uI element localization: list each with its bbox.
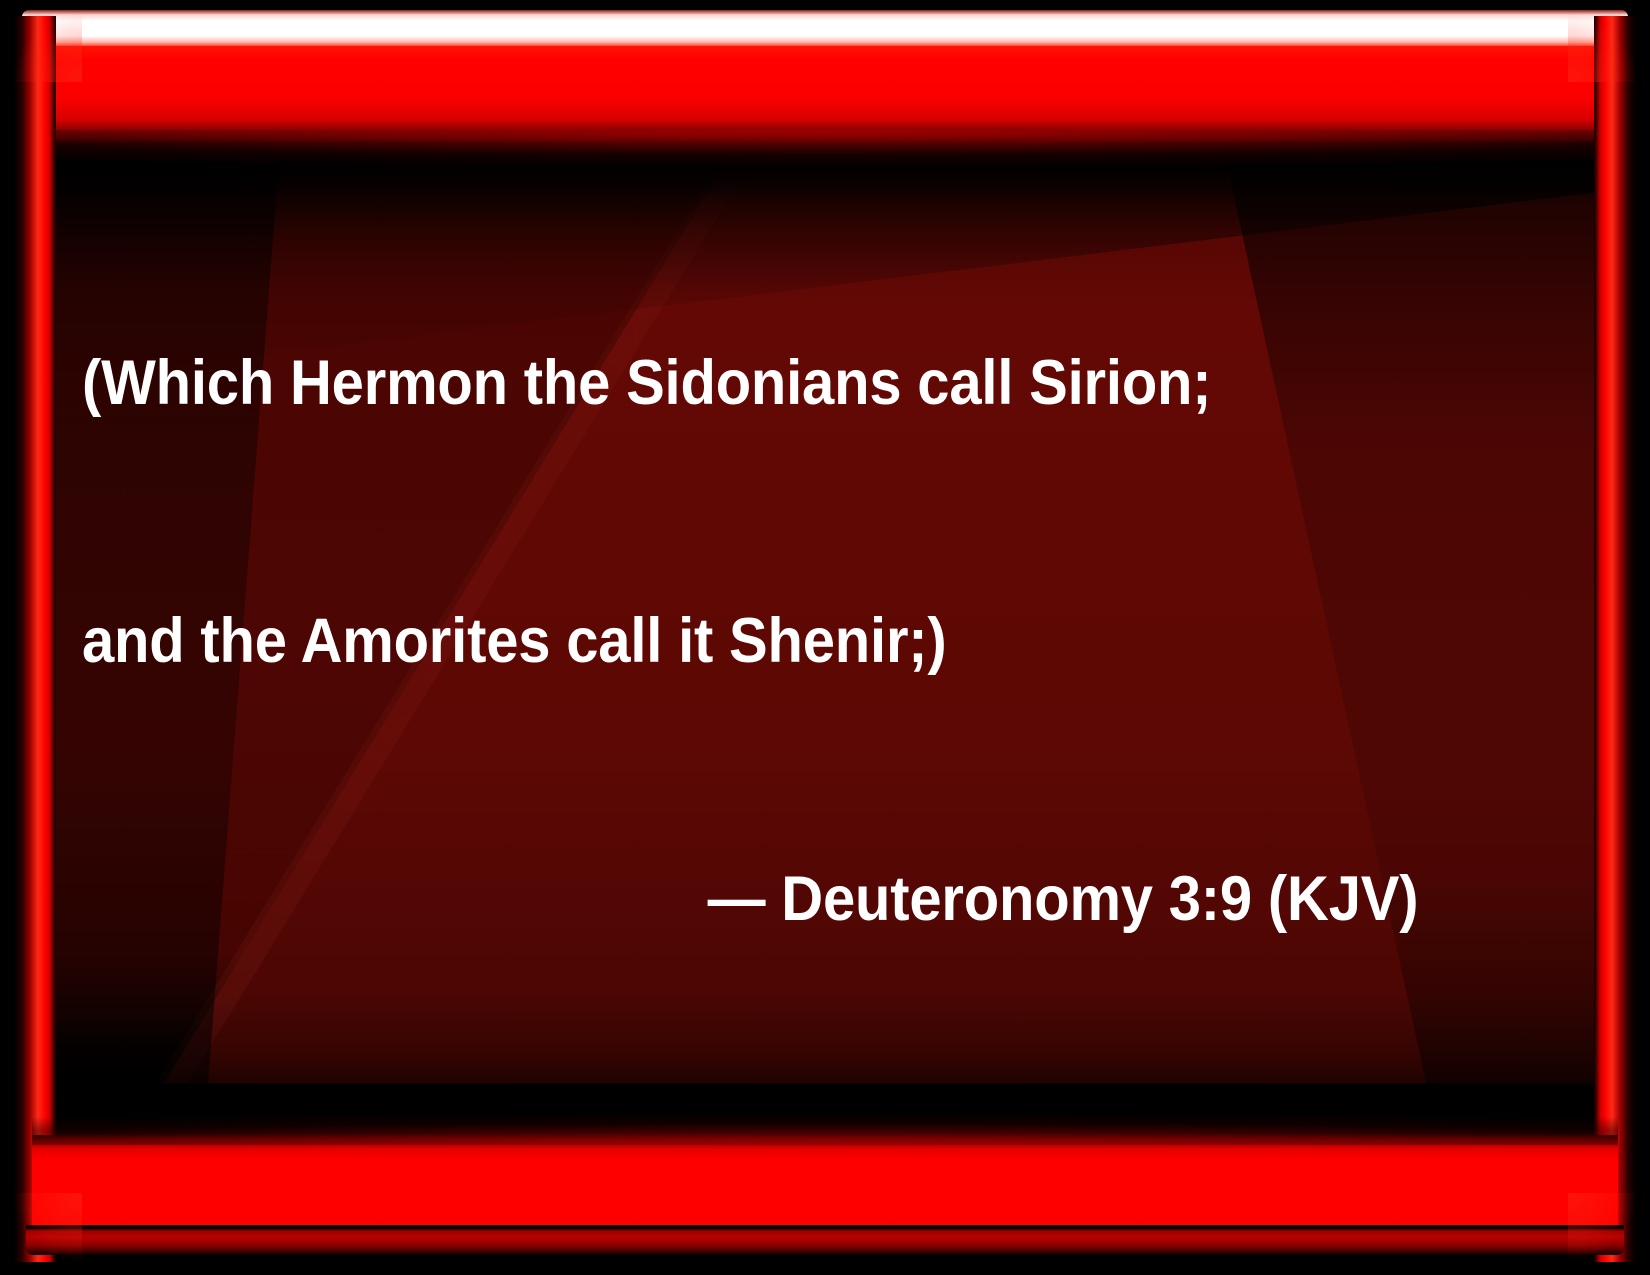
frame-bottom-shadow-bar [26, 1225, 1624, 1255]
frame-left-bar [14, 16, 56, 1262]
frame-top-highlight-bar [22, 10, 1628, 50]
verse-attribution: — Deuteronomy 3:9 (KJV) [82, 856, 1407, 942]
frame-top-bar [30, 46, 1620, 142]
scripture-slide: (Which Hermon the Sidonians call Sirion;… [0, 0, 1650, 1275]
verse-line-1: (Which Hermon the Sidonians call Sirion; [82, 340, 1407, 426]
frame-bottom-bar [32, 1135, 1618, 1227]
verse-line-2: and the Amorites call it Shenir;) [82, 598, 1407, 684]
verse-text-block: (Which Hermon the Sidonians call Sirion;… [82, 168, 1407, 1114]
frame-right-bar [1594, 16, 1636, 1262]
